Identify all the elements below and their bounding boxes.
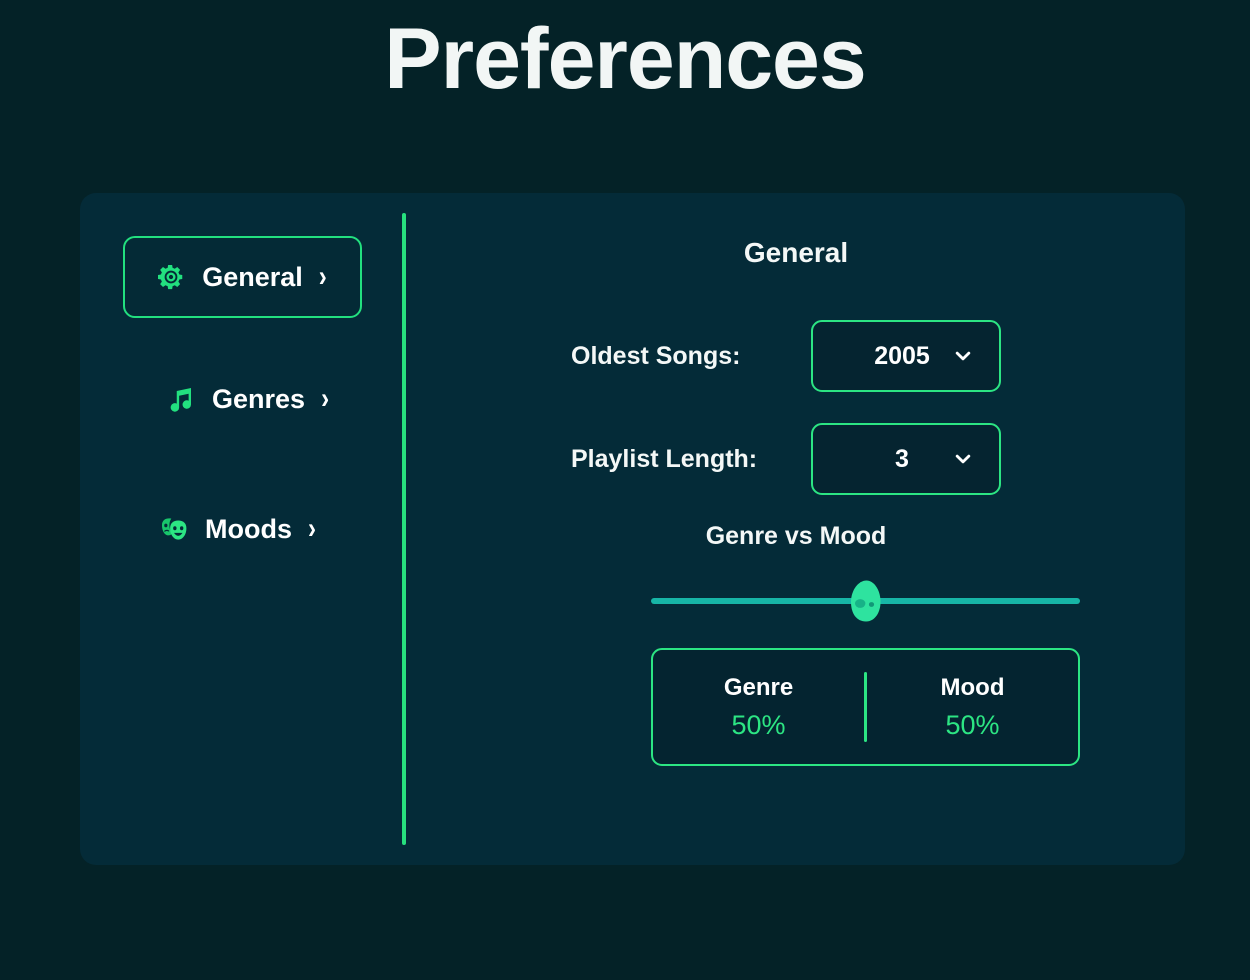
panel-title: General xyxy=(407,237,1185,269)
theater-masks-icon xyxy=(157,512,191,546)
general-settings-panel: General Oldest Songs: 2005 Playlist Leng… xyxy=(407,193,1185,865)
sidebar-item-genres-label: Genres xyxy=(212,384,305,415)
sidebar-panel-divider xyxy=(402,213,406,845)
mood-percent: 50% xyxy=(945,710,999,741)
blob-thumb-icon[interactable] xyxy=(845,579,887,623)
sidebar-item-general-label: General xyxy=(202,262,303,293)
sidebar-item-genres[interactable]: Genres › xyxy=(162,379,331,419)
oldest-songs-value: 2005 xyxy=(874,342,930,371)
genre-label: Genre xyxy=(724,674,793,702)
chevron-right-icon: › xyxy=(321,384,329,414)
gear-icon xyxy=(154,260,188,294)
oldest-songs-label: Oldest Songs: xyxy=(571,342,811,371)
chevron-down-icon xyxy=(953,346,973,366)
genre-mood-slider[interactable] xyxy=(651,581,1080,621)
settings-sidebar: General › Genres › xyxy=(80,193,403,865)
mood-split: Mood 50% xyxy=(867,650,1078,764)
playlist-length-label: Playlist Length: xyxy=(571,445,811,474)
chevron-right-icon: › xyxy=(308,514,316,544)
sidebar-item-moods[interactable]: Moods › xyxy=(155,507,318,551)
chevron-right-icon: › xyxy=(319,262,327,292)
chevron-down-icon xyxy=(953,449,973,469)
oldest-songs-select[interactable]: 2005 xyxy=(811,320,1001,392)
playlist-length-select[interactable]: 3 xyxy=(811,423,1001,495)
genre-percent: 50% xyxy=(731,710,785,741)
preferences-card: General › Genres › xyxy=(80,193,1185,865)
playlist-length-value: 3 xyxy=(895,445,909,474)
mood-label: Mood xyxy=(941,674,1005,702)
genre-split: Genre 50% xyxy=(653,650,864,764)
page-title: Preferences xyxy=(0,0,1250,102)
sidebar-item-moods-label: Moods xyxy=(205,514,292,545)
genre-mood-split-box: Genre 50% Mood 50% xyxy=(651,648,1080,766)
playlist-length-row: Playlist Length: 3 xyxy=(571,423,1001,495)
genre-vs-mood-title: Genre vs Mood xyxy=(407,522,1185,551)
music-note-icon xyxy=(164,382,198,416)
oldest-songs-row: Oldest Songs: 2005 xyxy=(571,320,1001,392)
sidebar-item-general[interactable]: General › xyxy=(123,236,362,318)
